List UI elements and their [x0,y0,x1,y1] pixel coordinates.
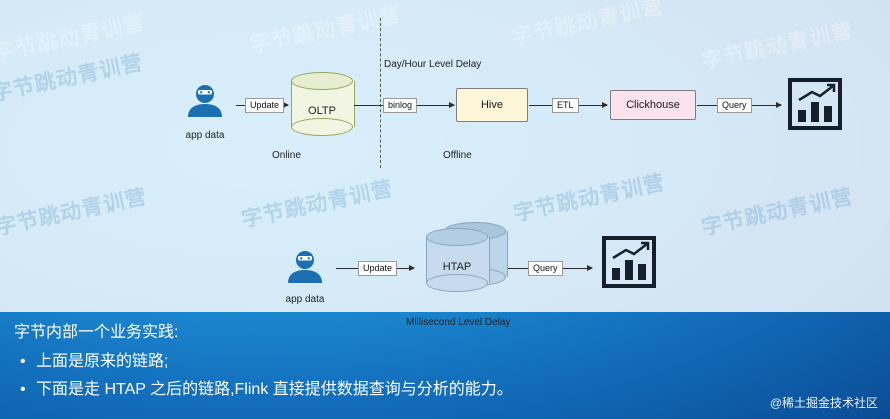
watermark: 字节跳动青训营 [0,46,145,107]
hive-node: Hive [456,88,528,122]
htap-node: HTAP [426,228,488,292]
hive-label: Hive [481,99,503,111]
section-label-offline: Offline [443,150,472,161]
watermark: 字节跳动青训营 [239,172,396,233]
htap-cylinder-top [426,228,488,246]
summary-bullet-1: 上面是原来的链路; [36,348,714,376]
oltp-node: OLTP [291,72,353,136]
app-data-person-icon-bottom [282,250,328,289]
analytics-chart-icon-top [786,78,844,135]
summary-bullet-list: 上面是原来的链路; 下面是走 HTAP 之后的链路,Flink 直接提供数据查询… [14,348,714,404]
arrow-label-query-bottom: Query [528,261,563,276]
summary-text-block: 字节内部一个业务实践: 上面是原来的链路; 下面是走 HTAP 之后的链路,Fl… [14,312,714,404]
diagram-panel: 字节跳动青训营 字节跳动青训营 字节跳动青训营 字节跳动青训营 字节跳动青训营 … [0,0,890,312]
app-data-person-icon [182,84,228,123]
watermark: 字节跳动青训营 [511,166,668,227]
oltp-label: OLTP [291,105,353,117]
online-offline-divider [380,18,381,168]
summary-bullet-2: 下面是走 HTAP 之后的链路,Flink 直接提供数据查询与分析的能力。 [36,376,714,404]
top-delay-label: Day/Hour Level Delay [384,59,481,70]
clickhouse-node: Clickhouse [610,90,696,120]
arrow-label-update-bottom: Update [358,261,397,276]
app-data-label-bottom: app data [282,294,328,305]
app-data-label-top: app data [182,130,228,141]
arrow-label-binlog: binlog [383,98,417,113]
arrow-label-etl: ETL [552,98,579,113]
oltp-cylinder-top [291,72,353,90]
clickhouse-label: Clickhouse [626,99,680,111]
oltp-cylinder-bottom [291,118,353,136]
section-label-online: Online [272,150,301,161]
arrow-label-query-top: Query [717,98,752,113]
credit-label: @稀土掘金技术社区 [770,394,878,411]
analytics-chart-icon-bottom [600,236,658,293]
watermark: 字节跳动青训营 [699,180,856,241]
arrow-label-update-top: Update [245,98,284,113]
watermark: 字节跳动青训营 [0,180,149,241]
htap-label: HTAP [426,261,488,273]
summary-heading: 字节内部一个业务实践: [14,318,714,342]
slide-canvas: 字节跳动青训营 字节跳动青训营 字节跳动青训营 字节跳动青训营 字节跳动青训营 … [0,0,890,419]
htap-cylinder-bottom [426,274,488,292]
